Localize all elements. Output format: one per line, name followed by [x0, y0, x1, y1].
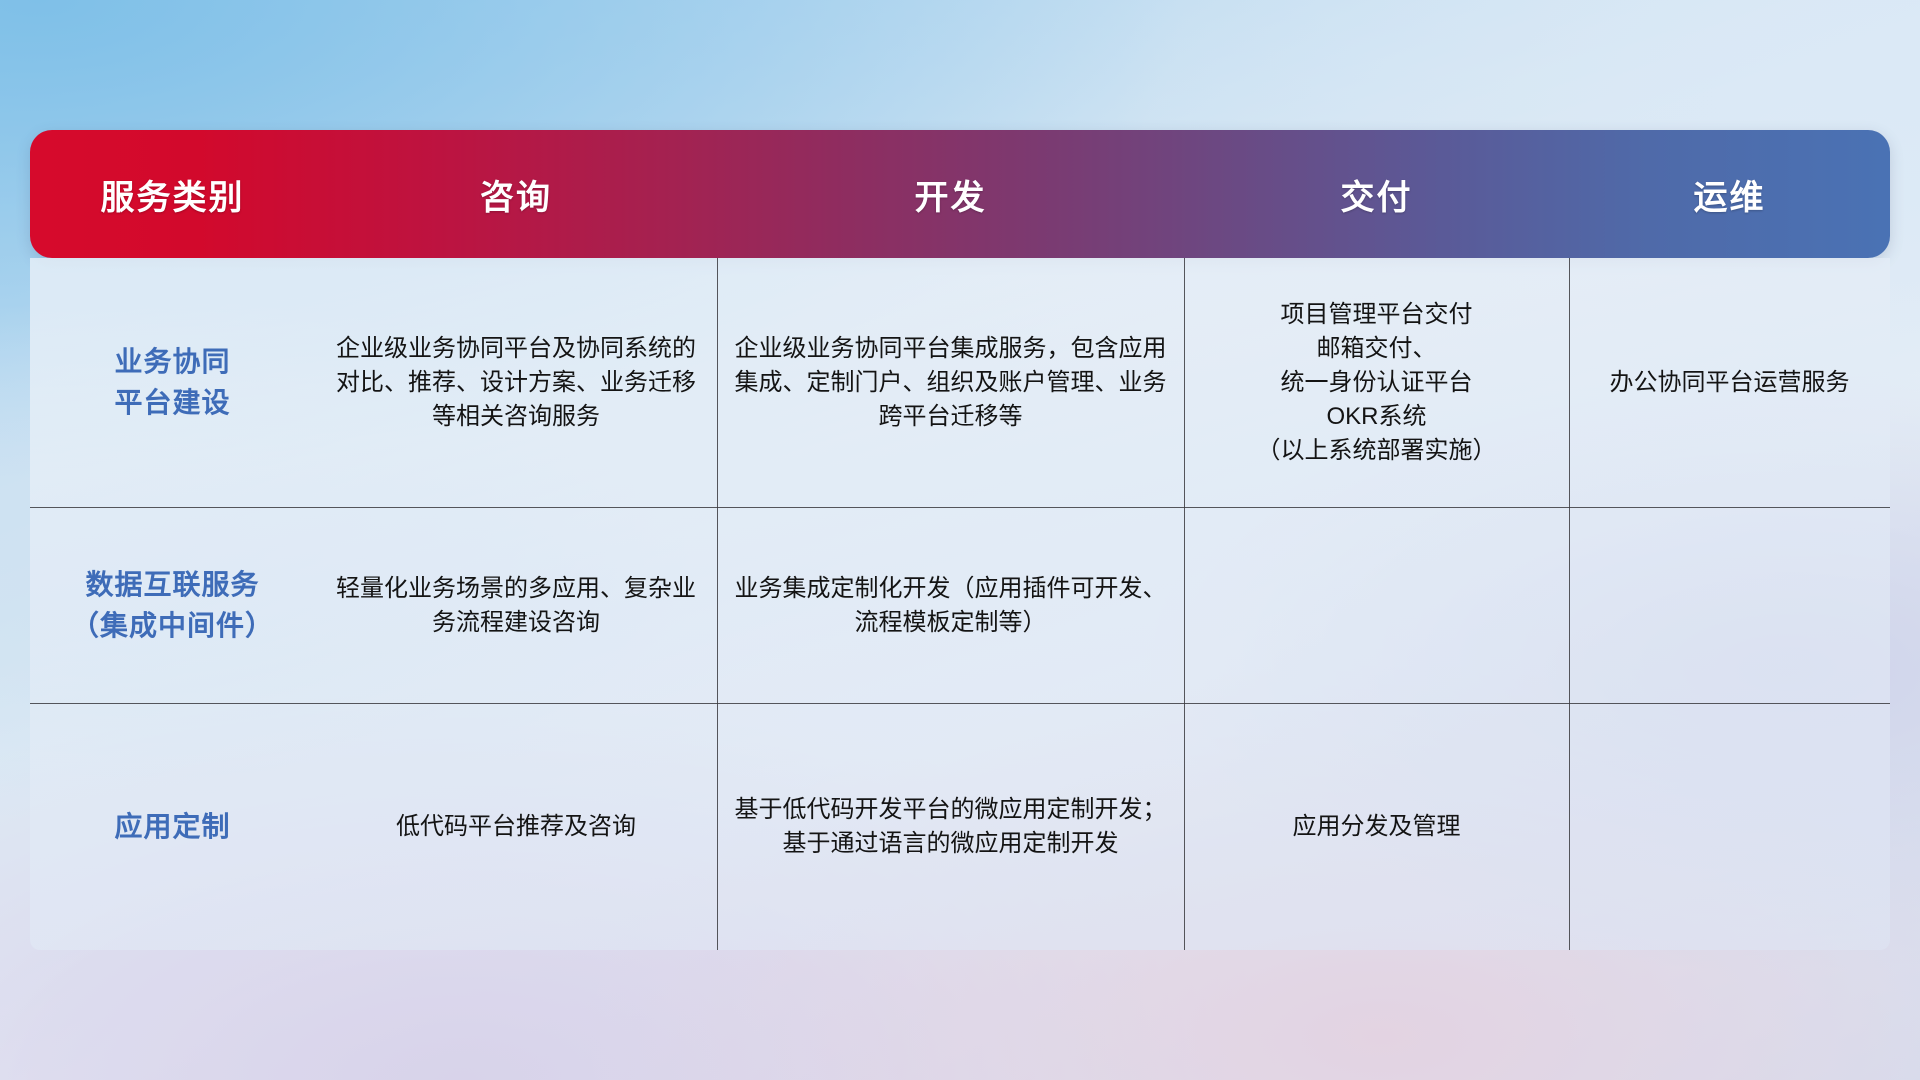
service-matrix-table: 服务类别 咨询 开发 交付 运维 业务协同 平台建设 企业级业务协同平台及协同系…: [30, 130, 1890, 950]
row-category-label: 业务协同 平台建设: [30, 258, 315, 508]
cell-consulting: 企业级业务协同平台及协同系统的对比、推荐、设计方案、业务迁移等相关咨询服务: [315, 258, 717, 508]
cell-operations: 办公协同平台运营服务: [1569, 258, 1890, 508]
cell-delivery: 应用分发及管理: [1184, 704, 1569, 950]
cell-development: 基于低代码开发平台的微应用定制开发； 基于通过语言的微应用定制开发: [717, 704, 1184, 950]
table-body: 业务协同 平台建设 企业级业务协同平台及协同系统的对比、推荐、设计方案、业务迁移…: [30, 258, 1890, 950]
row-category-label: 数据互联服务 （集成中间件）: [30, 508, 315, 704]
cell-consulting: 低代码平台推荐及咨询: [315, 704, 717, 950]
cell-operations: [1569, 508, 1890, 704]
cell-delivery: 项目管理平台交付 邮箱交付、 统一身份认证平台 OKR系统 （以上系统部署实施）: [1184, 258, 1569, 508]
table-row: 应用定制 低代码平台推荐及咨询 基于低代码开发平台的微应用定制开发； 基于通过语…: [30, 704, 1890, 950]
row-category-label: 应用定制: [30, 704, 315, 950]
cell-delivery: [1184, 508, 1569, 704]
column-header-development: 开发: [717, 170, 1184, 219]
column-header-operations: 运维: [1569, 170, 1890, 219]
cell-development: 企业级业务协同平台集成服务，包含应用集成、定制门户、组织及账户管理、业务跨平台迁…: [717, 258, 1184, 508]
cell-consulting: 轻量化业务场景的多应用、复杂业务流程建设咨询: [315, 508, 717, 704]
table-row: 业务协同 平台建设 企业级业务协同平台及协同系统的对比、推荐、设计方案、业务迁移…: [30, 258, 1890, 508]
table-row: 数据互联服务 （集成中间件） 轻量化业务场景的多应用、复杂业务流程建设咨询 业务…: [30, 508, 1890, 704]
cell-operations: [1569, 704, 1890, 950]
column-header-service-category: 服务类别: [30, 170, 315, 219]
column-header-consulting: 咨询: [315, 170, 717, 219]
table-header-row: 服务类别 咨询 开发 交付 运维: [30, 130, 1890, 258]
cell-development: 业务集成定制化开发（应用插件可开发、流程模板定制等）: [717, 508, 1184, 704]
column-header-delivery: 交付: [1184, 170, 1569, 219]
